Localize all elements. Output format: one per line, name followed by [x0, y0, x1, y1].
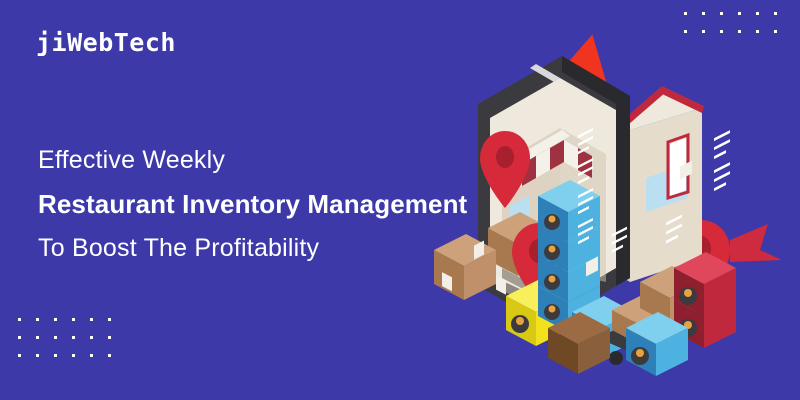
- brand-logo: jiWebTech: [36, 28, 176, 57]
- dot: [72, 318, 75, 321]
- dot: [90, 336, 93, 339]
- promo-banner: jiWebTech Effective Weekly Restaurant In…: [0, 0, 800, 400]
- dot: [36, 354, 39, 357]
- dot: [108, 336, 111, 339]
- dot: [54, 336, 57, 339]
- isometric-inventory-illustration: [430, 10, 800, 400]
- decorative-dot-grid-bottom-left: [18, 318, 126, 372]
- dot: [108, 354, 111, 357]
- dot: [108, 318, 111, 321]
- dot: [18, 354, 21, 357]
- dot: [54, 318, 57, 321]
- dot: [18, 336, 21, 339]
- dot: [90, 354, 93, 357]
- dot: [54, 354, 57, 357]
- dot: [72, 336, 75, 339]
- dot: [90, 318, 93, 321]
- dot: [72, 354, 75, 357]
- dot: [36, 336, 39, 339]
- dot: [18, 318, 21, 321]
- dot: [36, 318, 39, 321]
